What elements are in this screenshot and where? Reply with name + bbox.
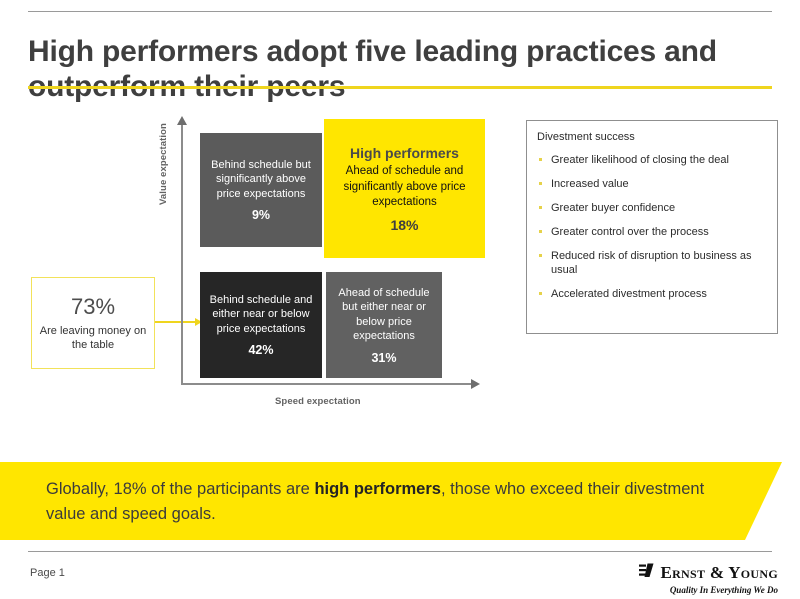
banner-text-emphasis: high performers <box>314 480 441 498</box>
list-item: Increased value <box>537 177 767 191</box>
speed-axis-line <box>181 383 471 385</box>
quadrant-value: 42% <box>248 343 273 357</box>
list-item-label: Reduced risk of disruption to business a… <box>551 250 752 276</box>
quadrant-text: Behind schedule but significantly above … <box>208 158 314 202</box>
callout-connector-arrow-icon <box>155 321 195 323</box>
quadrant-text: Ahead of schedule and significantly abov… <box>332 164 477 211</box>
quadrant-value: 18% <box>390 217 418 233</box>
ey-beam-mark-icon <box>639 563 655 583</box>
bullet-square-icon <box>539 158 542 161</box>
divestment-success-box: Divestment success Greater likelihood of… <box>526 120 778 334</box>
list-item-label: Accelerated divestment process <box>551 288 707 300</box>
bullet-square-icon <box>539 182 542 185</box>
bullet-square-icon <box>539 254 542 257</box>
quadrant-heading: High performers <box>350 144 459 162</box>
list-item: Greater control over the process <box>537 225 767 239</box>
callout-caption: Are leaving money on the table <box>32 324 154 352</box>
quadrant-top-right-high-performers: High performers Ahead of schedule and si… <box>324 119 485 258</box>
page-number: Page 1 <box>30 567 65 579</box>
list-item-label: Greater control over the process <box>551 226 709 238</box>
quadrant-text: Behind schedule and either near or below… <box>208 293 314 337</box>
value-axis-line <box>181 124 183 384</box>
bullet-square-icon <box>539 230 542 233</box>
banner-text: Globally, 18% of the participants are hi… <box>46 477 726 527</box>
title-underline <box>28 86 772 89</box>
list-item: Reduced risk of disruption to business a… <box>537 249 767 277</box>
ernst-young-logo: Ernst & Young Quality In Everything We D… <box>639 563 778 596</box>
page-title: High performers adopt five leading pract… <box>28 34 768 104</box>
quadrant-bottom-left: Behind schedule and either near or below… <box>200 272 322 378</box>
callout-box-73-percent: 73% Are leaving money on the table <box>31 277 155 369</box>
quadrant-value: 31% <box>371 351 396 365</box>
axis-label-speed: Speed expectation <box>275 396 361 407</box>
listbox-title: Divestment success <box>537 130 767 144</box>
quadrant-text: Ahead of schedule but either near or bel… <box>334 286 434 344</box>
quadrant-bottom-right: Ahead of schedule but either near or bel… <box>326 272 442 378</box>
list-item: Greater buyer confidence <box>537 201 767 215</box>
list-item-label: Greater likelihood of closing the deal <box>551 154 729 166</box>
bullet-square-icon <box>539 206 542 209</box>
axis-label-value: Value expectation <box>158 123 169 205</box>
list-item-label: Increased value <box>551 178 629 190</box>
quadrant-value: 9% <box>252 208 270 222</box>
list-item: Accelerated divestment process <box>537 287 767 301</box>
footer-divider <box>28 551 772 552</box>
banner-text-prefix: Globally, 18% of the participants are <box>46 480 314 498</box>
bullet-square-icon <box>539 292 542 295</box>
slide-canvas: High performers adopt five leading pract… <box>0 0 800 599</box>
logo-tagline: Quality In Everything We Do <box>639 585 778 596</box>
header-divider <box>28 11 772 12</box>
list-item-label: Greater buyer confidence <box>551 202 675 214</box>
listbox-items: Greater likelihood of closing the dealIn… <box>537 153 767 301</box>
quadrant-top-left: Behind schedule but significantly above … <box>200 133 322 247</box>
list-item: Greater likelihood of closing the deal <box>537 153 767 167</box>
callout-value: 73% <box>71 294 115 320</box>
logo-wordmark: Ernst & Young <box>660 564 778 582</box>
